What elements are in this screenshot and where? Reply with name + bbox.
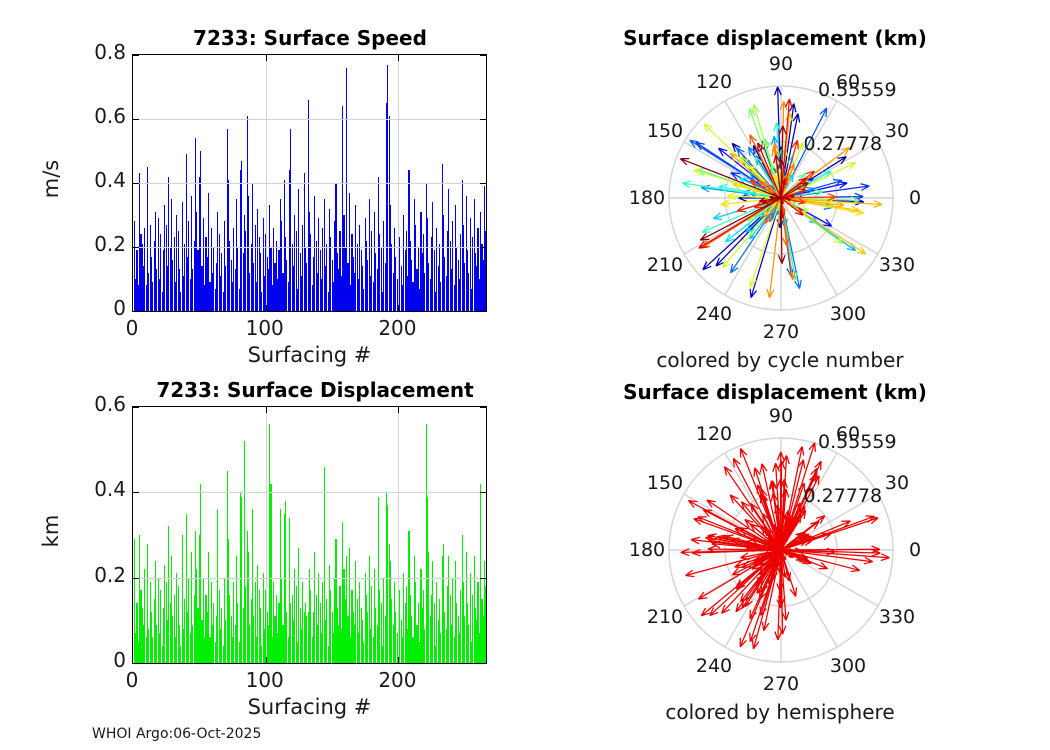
y-tick-mark: [133, 311, 139, 312]
polar-angle-label-270: 270: [763, 673, 799, 695]
y-tick-mark: [480, 407, 486, 408]
y-tick-mark: [480, 663, 486, 664]
polar-angle-label-270: 270: [763, 321, 799, 343]
gridline-horizontal: [133, 492, 486, 493]
gridline-horizontal: [133, 119, 486, 120]
y-tick-mark: [480, 311, 486, 312]
figure-footer: WHOI Argo:06-Oct-2025: [92, 726, 261, 742]
x-tick-mark: [398, 657, 399, 663]
speed-x-axis-label: Surfacing #: [132, 343, 487, 367]
y-tick-mark: [133, 663, 139, 664]
y-tick-mark: [133, 407, 139, 408]
y-tick-mark: [133, 55, 139, 56]
polar-angle-label-240: 240: [696, 655, 732, 677]
y-tick-label: 0.6: [40, 392, 126, 416]
gridline-vertical: [266, 55, 267, 311]
y-tick-mark: [480, 492, 486, 493]
polar-angle-label-180: 180: [629, 187, 665, 209]
x-tick-label: 0: [92, 668, 172, 692]
polar-angle-label-330: 330: [879, 606, 915, 628]
y-tick-mark: [480, 247, 486, 248]
y-tick-mark: [133, 119, 139, 120]
x-tick-mark: [266, 407, 267, 413]
x-tick-mark: [398, 305, 399, 311]
y-tick-mark: [480, 119, 486, 120]
y-tick-label: 0.6: [40, 104, 126, 128]
polar-cycle-caption: colored by cycle number: [600, 348, 960, 372]
y-tick-mark: [133, 492, 139, 493]
polar-angle-label-0: 0: [909, 539, 921, 561]
y-tick-mark: [480, 578, 486, 579]
displacement-chart-title: 7233: Surface Displacement: [132, 378, 498, 402]
polar-arrow: [722, 198, 781, 268]
x-tick-label: 200: [357, 316, 437, 340]
y-tick-mark: [133, 247, 139, 248]
polar-radial-label: 0.55559: [818, 79, 897, 101]
polar-angle-label-180: 180: [629, 539, 665, 561]
displacement-x-axis-label: Surfacing #: [132, 695, 487, 719]
polar-angle-label-240: 240: [696, 303, 732, 325]
polar-angle-label-30: 30: [885, 472, 909, 494]
x-tick-label: 100: [225, 316, 305, 340]
x-tick-label: 0: [92, 316, 172, 340]
figure-canvas: 7233: Surface Speed m/s Surfacing # 00.2…: [0, 0, 1050, 750]
gridline-horizontal: [133, 183, 486, 184]
y-tick-label: 0.4: [40, 477, 126, 501]
polar-angle-label-300: 300: [830, 655, 866, 677]
polar-angle-label-150: 150: [647, 472, 683, 494]
polar-hemisphere-plot: 03060901201501802102402703003300.277780.…: [600, 400, 960, 696]
polar-cycle-plot: 03060901201501802102402703003300.277780.…: [600, 48, 960, 344]
x-tick-mark: [266, 657, 267, 663]
polar-cycle-title: Surface displacement (km): [565, 26, 985, 50]
polar-angle-label-300: 300: [830, 303, 866, 325]
speed-plot-area: [132, 54, 487, 312]
polar-angle-label-90: 90: [769, 53, 793, 75]
speed-chart-title: 7233: Surface Speed: [132, 26, 488, 50]
displacement-bar-series: [133, 407, 486, 663]
x-tick-label: 100: [225, 668, 305, 692]
polar-spoke: [781, 550, 837, 647]
polar-arrow-series: [681, 443, 890, 649]
polar-angle-label-90: 90: [769, 405, 793, 427]
polar-angle-label-330: 330: [879, 254, 915, 276]
displacement-plot-area: [132, 406, 487, 664]
polar-hemisphere-caption: colored by hemisphere: [600, 700, 960, 724]
x-tick-label: 200: [357, 668, 437, 692]
polar-angle-label-30: 30: [885, 120, 909, 142]
gridline-vertical: [266, 407, 267, 663]
x-tick-mark: [398, 407, 399, 413]
y-tick-mark: [480, 55, 486, 56]
polar-angle-label-120: 120: [696, 71, 732, 93]
polar-spoke: [781, 550, 878, 606]
polar-angle-label-120: 120: [696, 423, 732, 445]
polar-radial-label: 0.55559: [818, 431, 897, 453]
gridline-vertical: [398, 407, 399, 663]
y-tick-label: 0.8: [40, 40, 126, 64]
y-tick-mark: [480, 183, 486, 184]
x-tick-mark: [266, 55, 267, 61]
y-tick-mark: [133, 578, 139, 579]
x-tick-mark: [266, 305, 267, 311]
y-tick-label: 0.4: [40, 168, 126, 192]
polar-angle-label-210: 210: [647, 254, 683, 276]
x-tick-mark: [398, 55, 399, 61]
gridline-horizontal: [133, 578, 486, 579]
polar-radial-label: 0.27778: [804, 485, 883, 507]
bar: [270, 484, 271, 663]
y-tick-mark: [133, 183, 139, 184]
polar-angle-label-210: 210: [647, 606, 683, 628]
y-tick-label: 0.2: [40, 232, 126, 256]
gridline-horizontal: [133, 247, 486, 248]
polar-angle-label-0: 0: [909, 187, 921, 209]
polar-radial-label: 0.27778: [804, 133, 883, 155]
polar-angle-label-150: 150: [647, 120, 683, 142]
gridline-vertical: [398, 55, 399, 311]
y-tick-label: 0.2: [40, 563, 126, 587]
